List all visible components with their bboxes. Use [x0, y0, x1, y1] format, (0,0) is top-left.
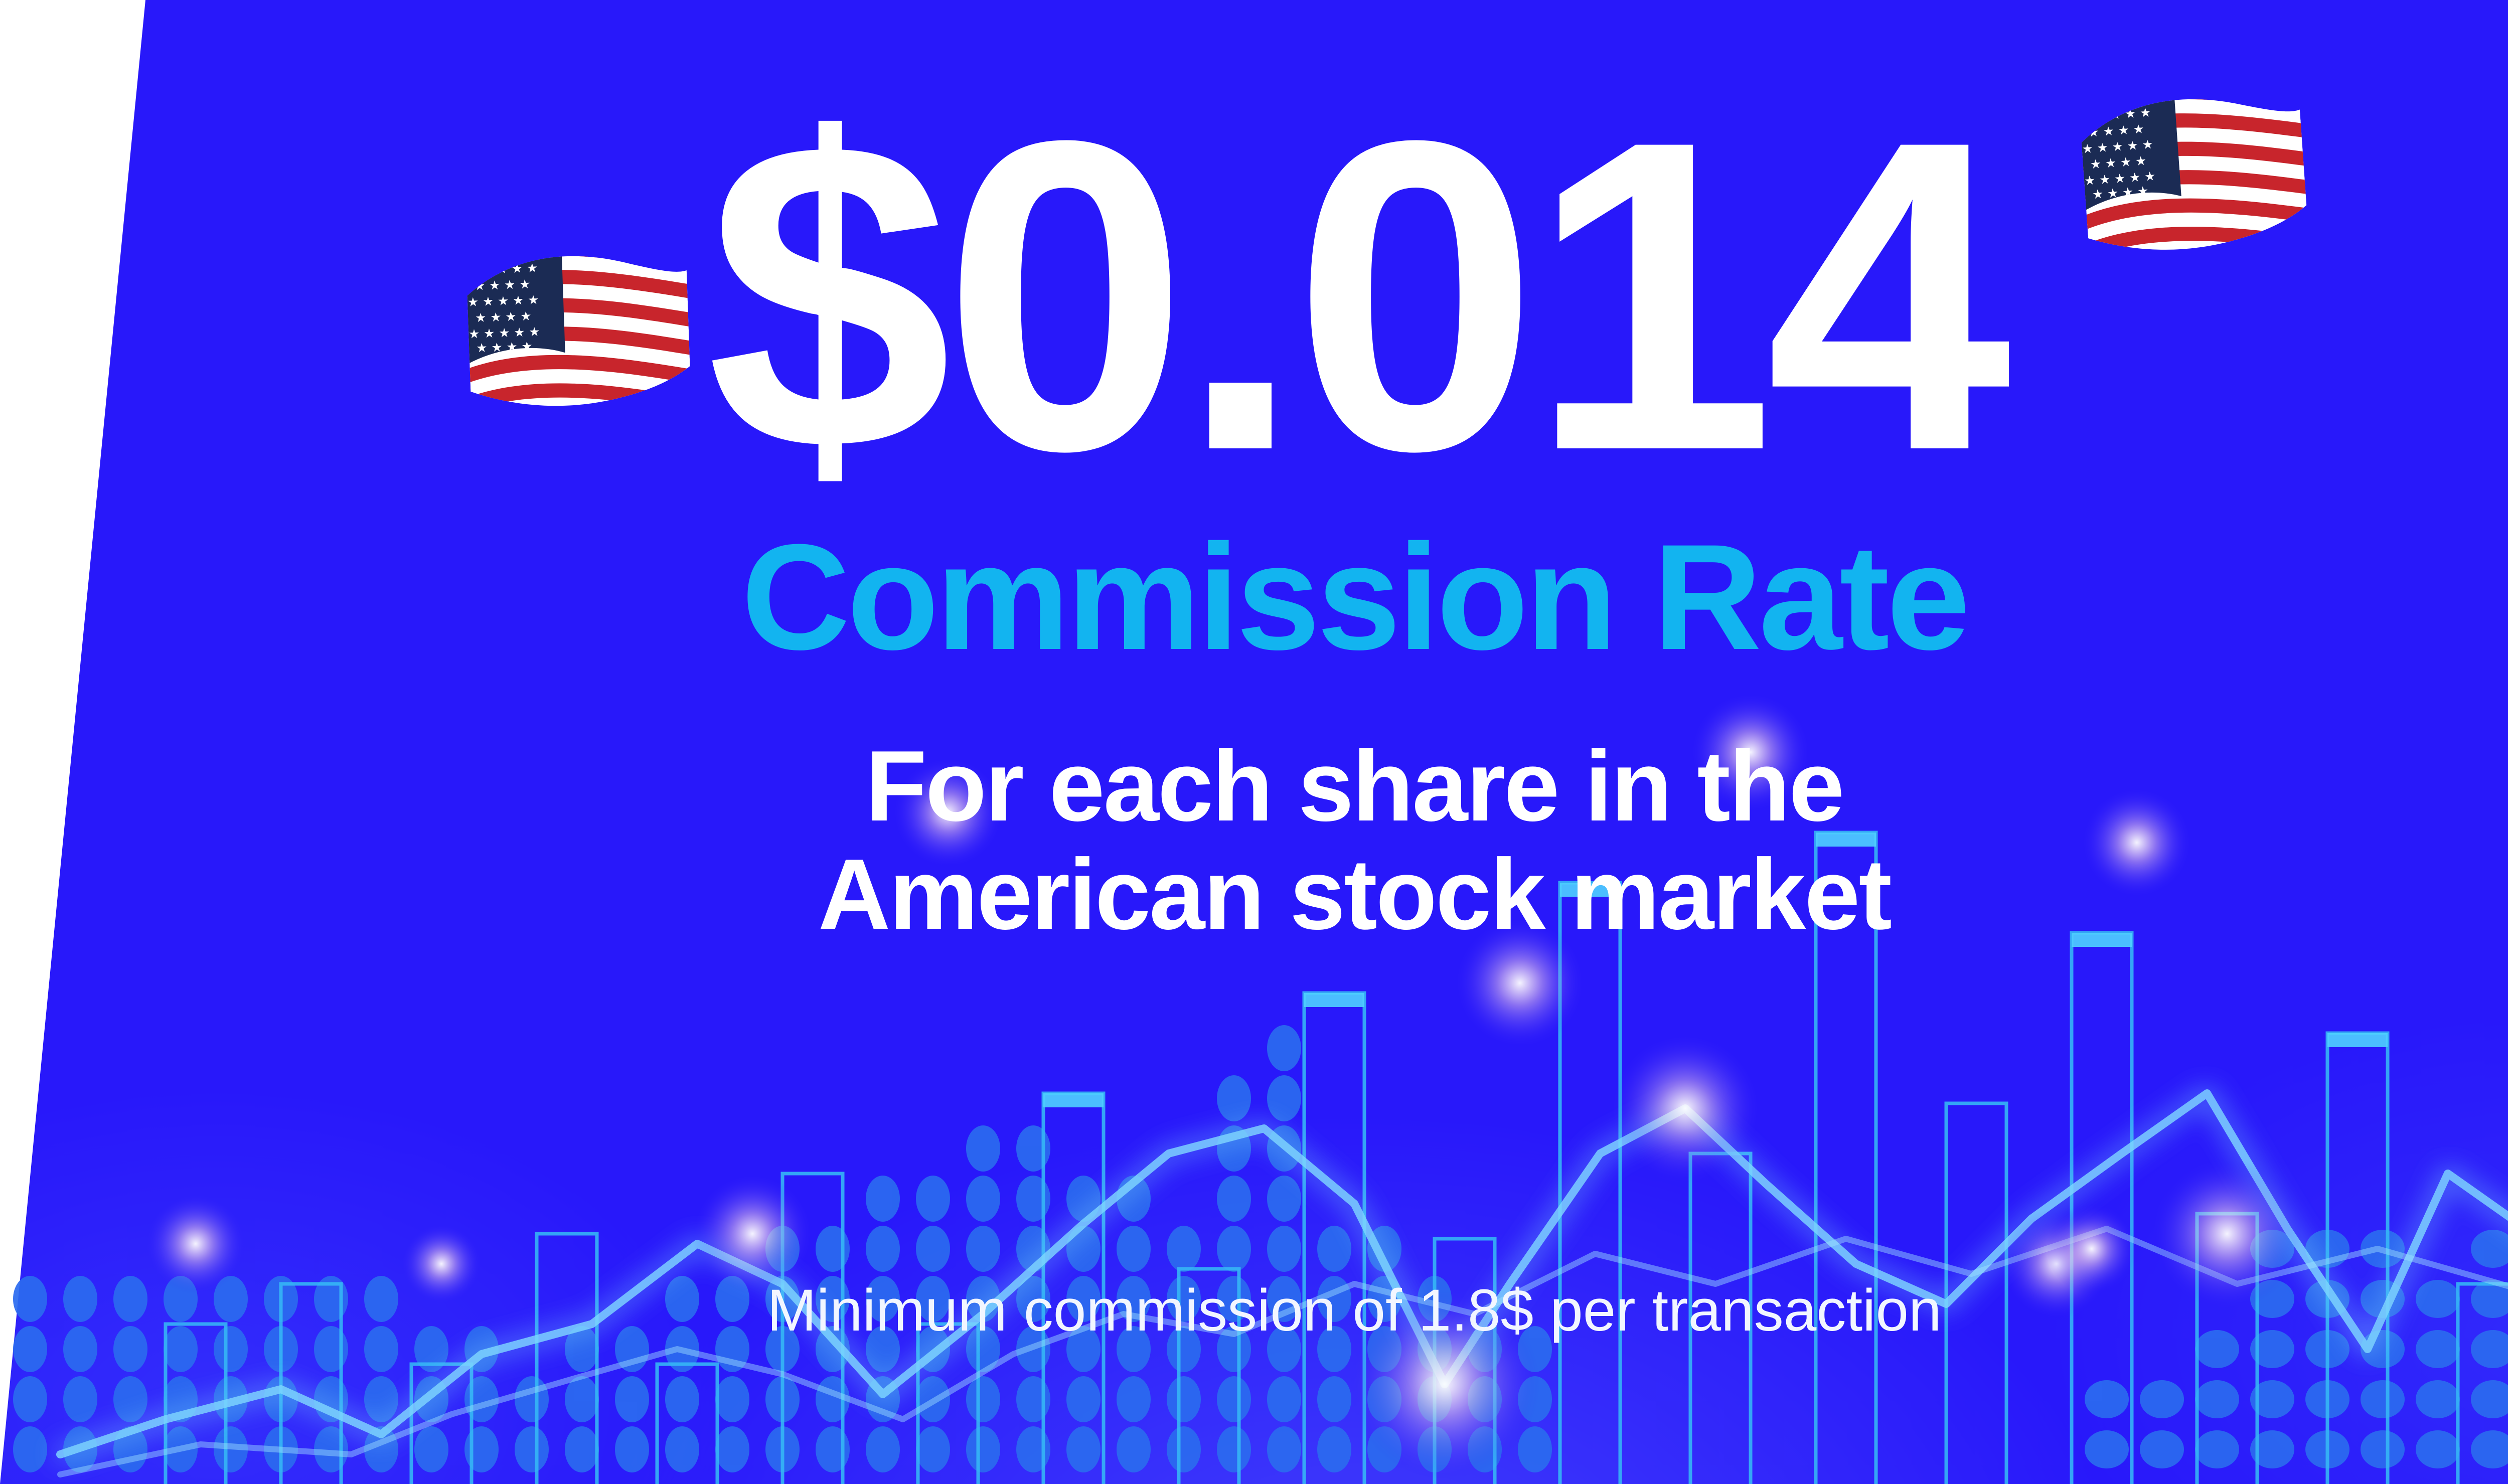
tagline: For each share in the American stock mar… — [818, 732, 1891, 949]
headline-row: ★ ★ ★ ★ ★ ★ ★ ★ ★ ★ ★ ★ ★ ★ ★ ★ ★ ★ ★ ★ … — [552, 90, 2157, 502]
svg-text:★ ★ ★ ★: ★ ★ ★ ★ — [474, 277, 531, 293]
svg-text:★ ★ ★ ★ ★: ★ ★ ★ ★ ★ — [466, 260, 538, 277]
tagline-line-1: For each share in the — [818, 732, 1891, 841]
svg-text:★ ★ ★ ★: ★ ★ ★ ★ — [476, 339, 533, 355]
svg-text:★ ★ ★ ★ ★: ★ ★ ★ ★ ★ — [467, 292, 539, 309]
svg-text:★ ★ ★ ★: ★ ★ ★ ★ — [475, 308, 532, 325]
page-title: $0.014 — [706, 86, 2002, 506]
united-states-flag-icon: ★ ★ ★ ★ ★ ★ ★ ★ ★ ★ ★ ★ ★ ★ ★ ★ ★ ★ ★ ★ … — [458, 237, 695, 425]
united-states-flag-icon: ★ ★ ★ ★ ★ ★ ★ ★ ★ ★ ★ ★ ★ ★ ★ ★ ★ ★ ★ ★ … — [2071, 72, 2313, 268]
subheadline: Commission Rate — [741, 522, 1967, 672]
footnote: Minimum commission of 1.8$ per transacti… — [0, 1276, 2508, 1345]
banner-content: ★ ★ ★ ★ ★ ★ ★ ★ ★ ★ ★ ★ ★ ★ ★ ★ ★ ★ ★ ★ … — [0, 0, 2508, 1484]
tagline-line-2: American stock market — [818, 841, 1891, 949]
promo-banner: ★ ★ ★ ★ ★ ★ ★ ★ ★ ★ ★ ★ ★ ★ ★ ★ ★ ★ ★ ★ … — [0, 0, 2508, 1484]
